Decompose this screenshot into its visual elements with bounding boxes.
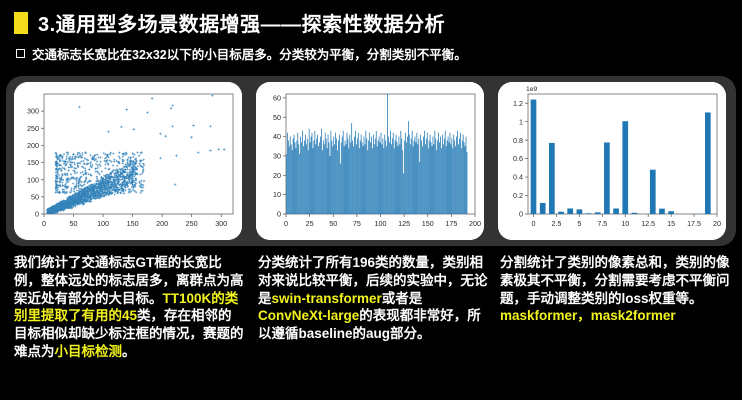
charts-band: 050100150200250300050100150200250300 025… xyxy=(6,76,736,246)
chart-panel-class-counts: 02550751001251501752000102030405060 xyxy=(256,82,484,240)
page-title: 3.通用型多场景数据增强——探索性数据分析 xyxy=(38,8,445,37)
svg-text:25: 25 xyxy=(306,219,314,228)
svg-text:100: 100 xyxy=(375,219,387,228)
svg-text:250: 250 xyxy=(27,124,39,133)
svg-text:50: 50 xyxy=(273,113,281,122)
svg-text:0: 0 xyxy=(532,219,536,228)
caption-segment: 分割统计了类别的像素总和，类别的像素极其不平衡，分割需要考虑不平衡问题，手动调整… xyxy=(500,255,730,306)
svg-text:175: 175 xyxy=(445,219,457,228)
caption-segment: ConvNeXt-large xyxy=(258,308,359,323)
caption-segment: 。 xyxy=(122,344,136,359)
svg-text:1e9: 1e9 xyxy=(526,86,538,93)
svg-text:100: 100 xyxy=(97,219,109,228)
svg-text:300: 300 xyxy=(27,107,39,116)
svg-text:200: 200 xyxy=(156,219,168,228)
caption-segment: 或者是 xyxy=(382,291,423,306)
svg-text:50: 50 xyxy=(31,192,39,201)
svg-text:30: 30 xyxy=(273,152,281,161)
pixel-sum-bar-svg: 02.557.51012.51517.52000.20.40.60.811.21… xyxy=(498,82,726,240)
caption-segment: 小目标检测 xyxy=(55,344,123,359)
svg-text:250: 250 xyxy=(186,219,198,228)
svg-text:50: 50 xyxy=(70,219,78,228)
title-bullet-icon xyxy=(14,12,28,34)
svg-text:5: 5 xyxy=(577,219,581,228)
svg-text:200: 200 xyxy=(469,219,481,228)
svg-text:10: 10 xyxy=(621,219,629,228)
svg-text:0: 0 xyxy=(284,219,288,228)
svg-text:60: 60 xyxy=(273,93,281,102)
svg-text:1.2: 1.2 xyxy=(513,99,523,108)
svg-text:150: 150 xyxy=(422,219,434,228)
svg-text:17.5: 17.5 xyxy=(687,219,701,228)
svg-text:40: 40 xyxy=(273,132,281,141)
svg-text:1: 1 xyxy=(519,117,523,126)
slide-root: 3.通用型多场景数据增强——探索性数据分析 交通标志长宽比在32x32以下的小目… xyxy=(0,0,742,400)
svg-text:0: 0 xyxy=(519,210,523,219)
svg-text:200: 200 xyxy=(27,141,39,150)
svg-text:10: 10 xyxy=(273,190,281,199)
svg-text:150: 150 xyxy=(27,158,39,167)
svg-text:0.4: 0.4 xyxy=(513,173,523,182)
svg-text:0: 0 xyxy=(42,219,46,228)
svg-text:0.8: 0.8 xyxy=(513,136,523,145)
svg-text:150: 150 xyxy=(127,219,139,228)
svg-text:0.6: 0.6 xyxy=(513,154,523,163)
scatter-plot-svg: 050100150200250300050100150200250300 xyxy=(14,82,242,240)
svg-text:12.5: 12.5 xyxy=(641,219,655,228)
caption-segment: swin-transformer xyxy=(272,291,382,306)
subtitle-text: 交通标志长宽比在32x32以下的小目标居多。分类较为平衡，分割类别不平衡。 xyxy=(32,44,467,63)
caption-pixel-sums: 分割统计了类别的像素总和，类别的像素极其不平衡，分割需要考虑不平衡问题，手动调整… xyxy=(500,254,731,325)
caption-segment: maskformer，mask2former xyxy=(500,308,676,323)
class-count-bar-svg: 02550751001251501752000102030405060 xyxy=(256,82,484,240)
svg-text:0: 0 xyxy=(35,210,39,219)
svg-text:15: 15 xyxy=(667,219,675,228)
caption-scatter: 我们统计了交通标志GT框的长宽比例，整体远处的标志居多，离群点为高架近处有部分的… xyxy=(14,254,245,361)
square-bullet-icon xyxy=(16,49,25,58)
slide-title-row: 3.通用型多场景数据增强——探索性数据分析 xyxy=(0,0,742,37)
svg-text:2.5: 2.5 xyxy=(551,219,561,228)
svg-text:20: 20 xyxy=(713,219,721,228)
slide-subtitle-row: 交通标志长宽比在32x32以下的小目标居多。分类较为平衡，分割类别不平衡。 xyxy=(0,37,742,63)
captions-row: 我们统计了交通标志GT框的长宽比例，整体远处的标志居多，离群点为高架近处有部分的… xyxy=(0,254,742,400)
svg-text:0: 0 xyxy=(277,210,281,219)
svg-text:75: 75 xyxy=(353,219,361,228)
chart-panel-pixel-sums: 02.557.51012.51517.52000.20.40.60.811.21… xyxy=(498,82,726,240)
svg-text:300: 300 xyxy=(215,219,227,228)
svg-text:100: 100 xyxy=(27,175,39,184)
chart-panel-scatter: 050100150200250300050100150200250300 xyxy=(14,82,242,240)
svg-text:50: 50 xyxy=(329,219,337,228)
svg-text:20: 20 xyxy=(273,171,281,180)
caption-class-counts: 分类统计了所有196类的数量，类别相对来说比较平衡，后续的实验中，无论是swin… xyxy=(258,254,489,343)
svg-text:0.2: 0.2 xyxy=(513,191,523,200)
svg-text:125: 125 xyxy=(398,219,410,228)
svg-text:7.5: 7.5 xyxy=(597,219,607,228)
